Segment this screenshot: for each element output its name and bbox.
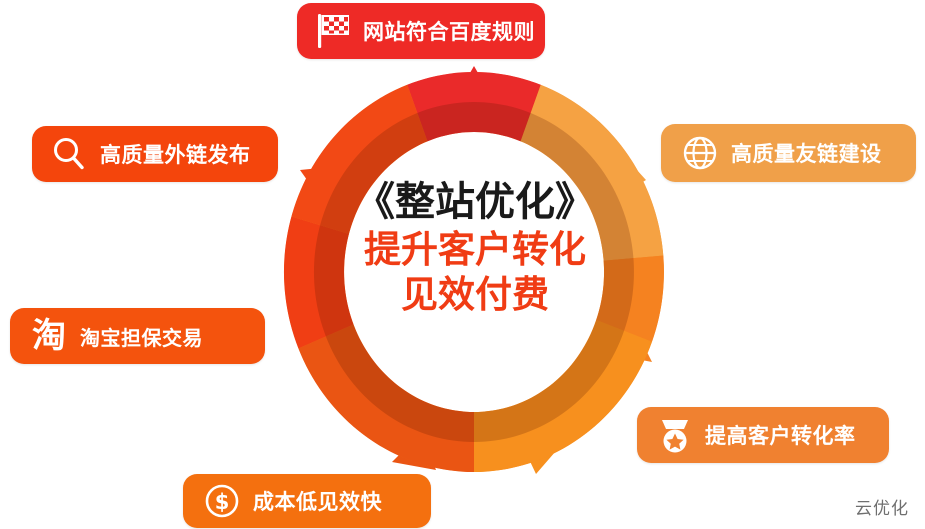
center-title: 《整站优化》 (330, 180, 620, 225)
taobao-logo-icon: 淘 (28, 316, 70, 356)
center-subtitle-line2: 见效付费 (330, 274, 620, 315)
pill-label: 成本低见效快 (253, 486, 382, 516)
svg-text:$: $ (215, 490, 230, 514)
pill-label: 提高客户转化率 (705, 420, 856, 450)
center-text-block: 《整站优化》 提升客户转化 见效付费 (330, 180, 620, 316)
pill-label: 网站符合百度规则 (363, 16, 535, 46)
pill-backlink-publishing[interactable]: 高质量外链发布 (32, 126, 278, 182)
search-icon (50, 135, 88, 173)
watermark: 云优化 (855, 494, 909, 519)
pill-label: 高质量外链发布 (100, 139, 251, 169)
pill-label: 淘宝担保交易 (80, 322, 203, 351)
dollar-coin-icon: $ (203, 482, 241, 520)
medal-star-icon (655, 415, 695, 455)
taobao-glyph: 淘 (32, 319, 66, 353)
pill-friendly-links[interactable]: 高质量友链建设 (661, 124, 916, 182)
infographic-canvas: 《整站优化》 提升客户转化 见效付费 (0, 0, 925, 529)
pill-taobao-escrow[interactable]: 淘 淘宝担保交易 (10, 308, 265, 364)
pill-conversion-rate[interactable]: 提高客户转化率 (637, 407, 889, 463)
pill-label: 高质量友链建设 (731, 138, 882, 168)
checkered-flag-icon (313, 11, 355, 51)
globe-icon (681, 134, 719, 172)
pill-baidu-rules[interactable]: 网站符合百度规则 (297, 3, 545, 59)
pill-low-cost[interactable]: $ 成本低见效快 (183, 474, 431, 528)
center-subtitle-line1: 提升客户转化 (330, 229, 620, 270)
